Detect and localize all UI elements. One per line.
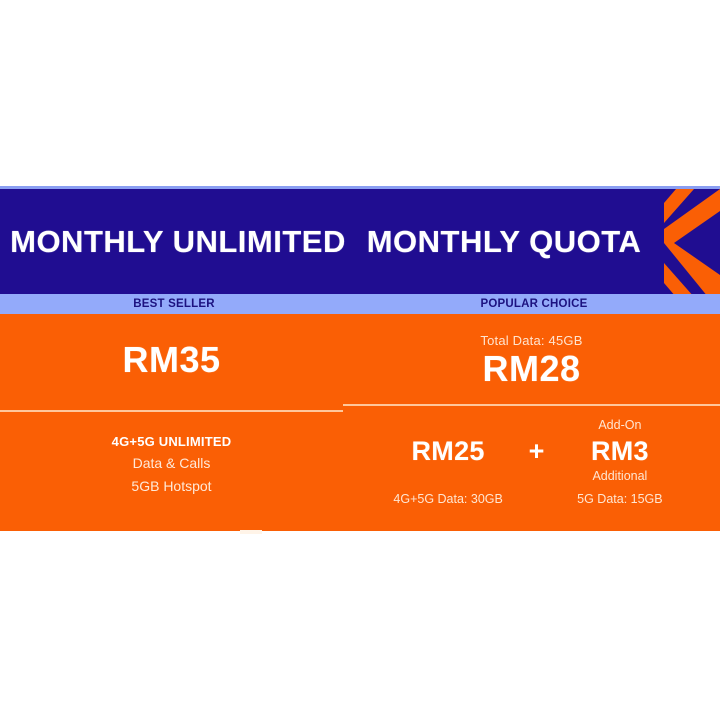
plan-card-monthly-unlimited[interactable]: RM35 4G+5G UNLIMITED Data & Calls 5GB Ho… bbox=[0, 314, 343, 531]
quota-price: RM28 bbox=[482, 351, 580, 387]
plan-badge-band: BEST SELLER POPULAR CHOICE bbox=[0, 294, 720, 314]
unlimited-price: RM35 bbox=[122, 342, 220, 378]
unlimited-divider bbox=[0, 410, 343, 412]
banner-title-monthly-quota: MONTHLY QUOTA bbox=[348, 224, 660, 260]
unlimited-detail-headline: 4G+5G UNLIMITED bbox=[0, 432, 343, 452]
quota-addon-footnote: 5G Data: 15GB bbox=[577, 492, 662, 507]
quota-addon-caption-bottom: Additional bbox=[592, 469, 647, 486]
k-chevron-logo-icon bbox=[664, 189, 720, 294]
quota-addon-component: Add-On RM3 Additional 5G Data: 15GB bbox=[557, 418, 682, 507]
card-bottom-notch bbox=[240, 530, 262, 534]
quota-base-price: RM25 bbox=[411, 435, 484, 469]
quota-price-breakdown: RM25 4G+5G Data: 30GB + Add-On RM3 Addit… bbox=[343, 418, 720, 507]
unlimited-detail-list: 4G+5G UNLIMITED Data & Calls 5GB Hotspot bbox=[0, 432, 343, 497]
promo-card: MONTHLY UNLIMITED MONTHLY QUOTA BEST SEL… bbox=[0, 186, 720, 534]
badge-best-seller: BEST SELLER bbox=[0, 298, 348, 310]
banner-title-group: MONTHLY UNLIMITED MONTHLY QUOTA bbox=[0, 189, 660, 294]
quota-addon-price: RM3 bbox=[591, 435, 649, 469]
unlimited-price-area: RM35 bbox=[0, 314, 343, 406]
quota-detail-block: RM25 4G+5G Data: 30GB + Add-On RM3 Addit… bbox=[343, 418, 720, 507]
plan-card-monthly-quota[interactable]: Total Data: 45GB RM28 RM25 4G+5G Data: 3… bbox=[343, 314, 720, 531]
banner-title-monthly-unlimited: MONTHLY UNLIMITED bbox=[0, 224, 348, 260]
quota-base-footnote: 4G+5G Data: 30GB bbox=[393, 492, 502, 507]
quota-addon-caption-top: Add-On bbox=[598, 418, 641, 435]
unlimited-detail-hotspot: 5GB Hotspot bbox=[0, 475, 343, 497]
promo-banner: MONTHLY UNLIMITED MONTHLY QUOTA bbox=[0, 186, 720, 294]
badge-popular-choice: POPULAR CHOICE bbox=[348, 298, 720, 310]
quota-base-component: RM25 4G+5G Data: 30GB bbox=[381, 418, 516, 507]
unlimited-detail-data-calls: Data & Calls bbox=[0, 452, 343, 474]
quota-price-area: Total Data: 45GB RM28 bbox=[343, 314, 720, 404]
plans-body: RM35 4G+5G UNLIMITED Data & Calls 5GB Ho… bbox=[0, 314, 720, 531]
quota-divider bbox=[343, 404, 720, 406]
quota-total-data-label: Total Data: 45GB bbox=[480, 333, 582, 348]
quota-plus-operator: + bbox=[516, 435, 558, 469]
